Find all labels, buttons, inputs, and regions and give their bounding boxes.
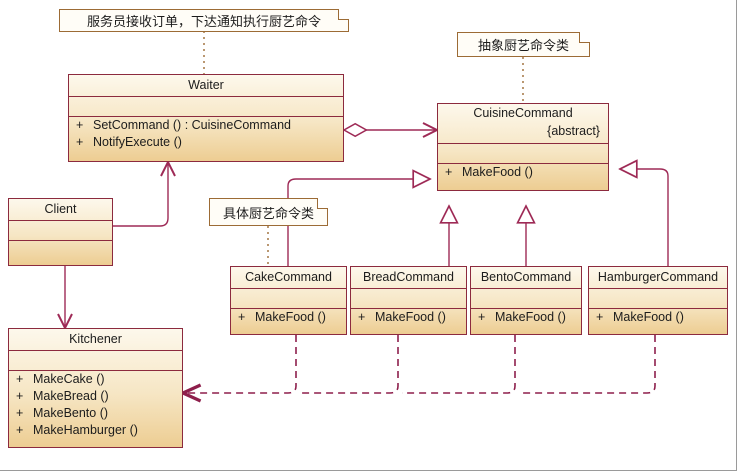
note-waiter: 服务员接收订单，下达通知执行厨艺命令 xyxy=(59,9,349,32)
class-cuisinecommand-stereotype: {abstract} xyxy=(438,123,608,140)
class-client-attributes xyxy=(9,221,112,241)
relation-hamburgercommand-generalization xyxy=(620,169,668,266)
class-cuisinecommand-name: CuisineCommand xyxy=(473,106,572,120)
operation-signature: MakeBread () xyxy=(33,389,109,403)
class-cuisinecommand-attributes xyxy=(438,144,608,164)
visibility-marker: + xyxy=(16,422,33,439)
operation-signature: MakeHamburger () xyxy=(33,423,138,437)
operation-signature: MakeFood () xyxy=(495,310,566,324)
class-hamburgercommand-attributes xyxy=(589,289,727,309)
operation-makefood: +MakeFood () xyxy=(438,164,608,181)
visibility-marker: + xyxy=(16,371,33,388)
operation-makebread: +MakeBread () xyxy=(9,388,182,405)
class-breadcommand-operations: +MakeFood () xyxy=(351,309,466,326)
uml-diagram-canvas: Kitchener (dashed) --> 服务员接收订单，下达通知执行厨艺命… xyxy=(0,0,737,471)
visibility-marker: + xyxy=(596,309,613,326)
operation-makebento: +MakeBento () xyxy=(9,405,182,422)
class-breadcommand[interactable]: BreadCommand +MakeFood () xyxy=(350,266,467,335)
class-waiter-operations: +SetCommand () : CuisineCommand +NotifyE… xyxy=(69,117,343,151)
operation-signature: MakeFood () xyxy=(255,310,326,324)
class-cuisinecommand-operations: +MakeFood () xyxy=(438,164,608,181)
class-bentocommand-operations: +MakeFood () xyxy=(471,309,581,326)
note-concrete-command: 具体厨艺命令类 xyxy=(209,198,328,226)
class-kitchener-attributes xyxy=(9,351,182,371)
operation-makefood: +MakeFood () xyxy=(589,309,727,326)
operation-signature: NotifyExecute () xyxy=(93,135,182,149)
class-bentocommand-title: BentoCommand xyxy=(471,267,581,289)
visibility-marker: + xyxy=(16,388,33,405)
operation-signature: MakeFood () xyxy=(375,310,446,324)
class-kitchener-title: Kitchener xyxy=(9,329,182,351)
class-hamburgercommand-title: HamburgerCommand xyxy=(589,267,727,289)
class-waiter[interactable]: Waiter +SetCommand () : CuisineCommand +… xyxy=(68,74,344,162)
class-cuisinecommand[interactable]: CuisineCommand {abstract} +MakeFood () xyxy=(437,103,609,191)
class-waiter-title: Waiter xyxy=(69,75,343,97)
operation-signature: SetCommand () : CuisineCommand xyxy=(93,118,291,132)
class-hamburgercommand-operations: +MakeFood () xyxy=(589,309,727,326)
relation-client-waiter xyxy=(113,162,168,226)
note-abstract-command: 抽象厨艺命令类 xyxy=(457,32,590,57)
operation-signature: MakeFood () xyxy=(613,310,684,324)
operation-makecake: +MakeCake () xyxy=(9,371,182,388)
operation-signature: MakeBento () xyxy=(33,406,108,420)
class-cuisinecommand-title: CuisineCommand {abstract} xyxy=(438,104,608,144)
operation-signature: MakeFood () xyxy=(462,165,533,179)
class-kitchener-operations: +MakeCake () +MakeBread () +MakeBento ()… xyxy=(9,371,182,439)
class-bentocommand-attributes xyxy=(471,289,581,309)
class-bentocommand[interactable]: BentoCommand +MakeFood () xyxy=(470,266,582,335)
visibility-marker: + xyxy=(16,405,33,422)
note-abstract-command-text: 抽象厨艺命令类 xyxy=(478,35,569,54)
relation-commands-kitchener-dependencies xyxy=(183,335,655,393)
class-client-title: Client xyxy=(9,199,112,221)
class-client[interactable]: Client xyxy=(8,198,113,266)
visibility-marker: + xyxy=(76,134,93,151)
class-hamburgercommand[interactable]: HamburgerCommand +MakeFood () xyxy=(588,266,728,335)
class-cakecommand-operations: +MakeFood () xyxy=(231,309,346,326)
visibility-marker: + xyxy=(445,164,462,181)
class-cakecommand-title: CakeCommand xyxy=(231,267,346,289)
class-cakecommand-attributes xyxy=(231,289,346,309)
visibility-marker: + xyxy=(478,309,495,326)
visibility-marker: + xyxy=(238,309,255,326)
class-client-operations xyxy=(9,241,112,266)
note-concrete-command-text: 具体厨艺命令类 xyxy=(223,203,314,222)
note-waiter-text: 服务员接收订单，下达通知执行厨艺命令 xyxy=(87,11,321,30)
operation-makehamburger: +MakeHamburger () xyxy=(9,422,182,439)
operation-makefood: +MakeFood () xyxy=(231,309,346,326)
operation-makefood: +MakeFood () xyxy=(471,309,581,326)
class-cakecommand[interactable]: CakeCommand +MakeFood () xyxy=(230,266,347,335)
visibility-marker: + xyxy=(358,309,375,326)
class-kitchener[interactable]: Kitchener +MakeCake () +MakeBread () +Ma… xyxy=(8,328,183,448)
operation-signature: MakeCake () xyxy=(33,372,105,386)
class-waiter-attributes xyxy=(69,97,343,117)
operation-makefood: +MakeFood () xyxy=(351,309,466,326)
visibility-marker: + xyxy=(76,117,93,134)
operation-notifyexecute: +NotifyExecute () xyxy=(69,134,343,151)
class-breadcommand-attributes xyxy=(351,289,466,309)
class-breadcommand-title: BreadCommand xyxy=(351,267,466,289)
operation-setcommand: +SetCommand () : CuisineCommand xyxy=(69,117,343,134)
